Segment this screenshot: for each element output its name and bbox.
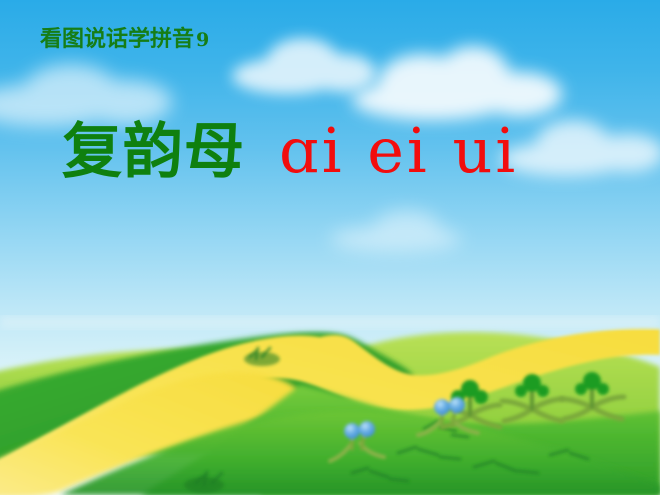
cloud-puff [232, 58, 342, 94]
cloud-puff [310, 54, 376, 92]
lesson-number: 9 [194, 29, 209, 51]
horizon-haze [0, 315, 660, 329]
cloud-puff [22, 64, 120, 124]
cloud-puff [378, 54, 466, 112]
cloud-main [352, 46, 567, 124]
cloud-puff [536, 120, 610, 168]
cloud-puff [478, 72, 562, 116]
cloud-puff [500, 142, 630, 176]
cloud-puff [266, 38, 340, 88]
subject-label: 复韵母 [62, 122, 245, 182]
cloud-right [500, 116, 660, 178]
cloud-puff [374, 210, 440, 246]
cloud-puff [592, 134, 660, 172]
header-lesson-title: 看图说话学拼音9 [40, 28, 209, 50]
main-title: 复韵母 ɑi ei ui [62, 120, 518, 182]
cloud-puff [330, 226, 462, 252]
course-label: 看图说话学拼音 [40, 26, 194, 52]
cloud-top-center [232, 36, 382, 96]
slide-canvas: 看图说话学拼音9 复韵母 ɑi ei ui [0, 0, 660, 495]
cloud-low-center [330, 208, 500, 254]
pinyin-text: ɑi ei ui [279, 120, 518, 182]
cloud-puff [436, 46, 510, 108]
landscape-illustration [0, 315, 660, 495]
